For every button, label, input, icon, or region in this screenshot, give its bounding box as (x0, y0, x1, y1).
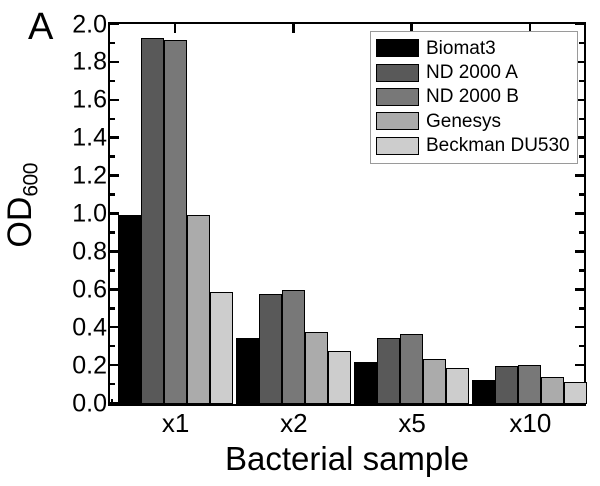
y-tick-label: 0.0 (72, 389, 107, 418)
bar (187, 215, 210, 405)
bar (236, 338, 259, 404)
bar (423, 359, 446, 404)
y-tick-label: 0.6 (72, 275, 107, 304)
bar (164, 40, 187, 404)
y-tick-label: 0.4 (72, 313, 107, 342)
x-tick-label: x1 (162, 408, 189, 439)
bar (354, 362, 377, 404)
bar-group (236, 24, 351, 404)
x-axis-title: Bacterial sample (108, 440, 586, 478)
legend-label: ND 2000 A (426, 63, 518, 82)
y-tick-label: 2.0 (72, 10, 107, 39)
bar (118, 215, 141, 405)
chart-figure: A OD600 2.01.81.61.41.21.00.80.60.40.20.… (0, 0, 600, 486)
legend-label: Genesys (426, 112, 501, 131)
bar (564, 382, 587, 404)
bar (400, 334, 423, 404)
bar (259, 294, 282, 404)
legend-item: Beckman DU530 (376, 134, 570, 158)
y-tick-label: 1.8 (72, 48, 107, 77)
y-tick-label: 0.8 (72, 237, 107, 266)
legend-label: Biomat3 (426, 39, 496, 58)
bar (377, 338, 400, 404)
bar (282, 290, 305, 404)
bar (305, 332, 328, 404)
bar (541, 377, 564, 404)
bar-group (118, 24, 233, 404)
legend-label: Beckman DU530 (426, 136, 570, 155)
y-tick-label: 1.6 (72, 86, 107, 115)
bar (472, 380, 495, 404)
legend-swatch (376, 88, 419, 106)
legend-item: ND 2000 A (376, 60, 570, 84)
y-axis-tick-labels: 2.01.81.61.41.21.00.80.60.40.20.0 (45, 22, 107, 406)
legend-swatch (376, 64, 419, 82)
x-axis-tick-labels: x1x2x5x10 (108, 408, 586, 442)
y-axis-title-subscript: 600 (19, 163, 42, 197)
x-tick-label: x2 (280, 408, 307, 439)
legend-item: Genesys (376, 109, 570, 133)
bar (141, 38, 164, 404)
legend-label: ND 2000 B (426, 87, 519, 106)
y-axis-title: OD600 (0, 0, 50, 410)
legend-swatch (376, 39, 419, 57)
bar (210, 292, 233, 404)
bar (446, 368, 469, 404)
y-axis-title-main: OD (1, 196, 39, 247)
legend-swatch (376, 137, 419, 155)
y-tick-label: 1.2 (72, 162, 107, 191)
x-tick-label: x10 (509, 408, 551, 439)
x-tick-label: x5 (398, 408, 425, 439)
bar (328, 351, 351, 404)
y-tick-label: 1.4 (72, 124, 107, 153)
legend-item: ND 2000 B (376, 85, 570, 109)
legend-item: Biomat3 (376, 36, 570, 60)
y-tick-label: 1.0 (72, 200, 107, 229)
y-tick-label: 0.2 (72, 351, 107, 380)
legend: Biomat3ND 2000 AND 2000 BGenesysBeckman … (370, 31, 578, 164)
bar (518, 365, 541, 404)
bar (495, 366, 518, 404)
legend-swatch (376, 112, 419, 130)
